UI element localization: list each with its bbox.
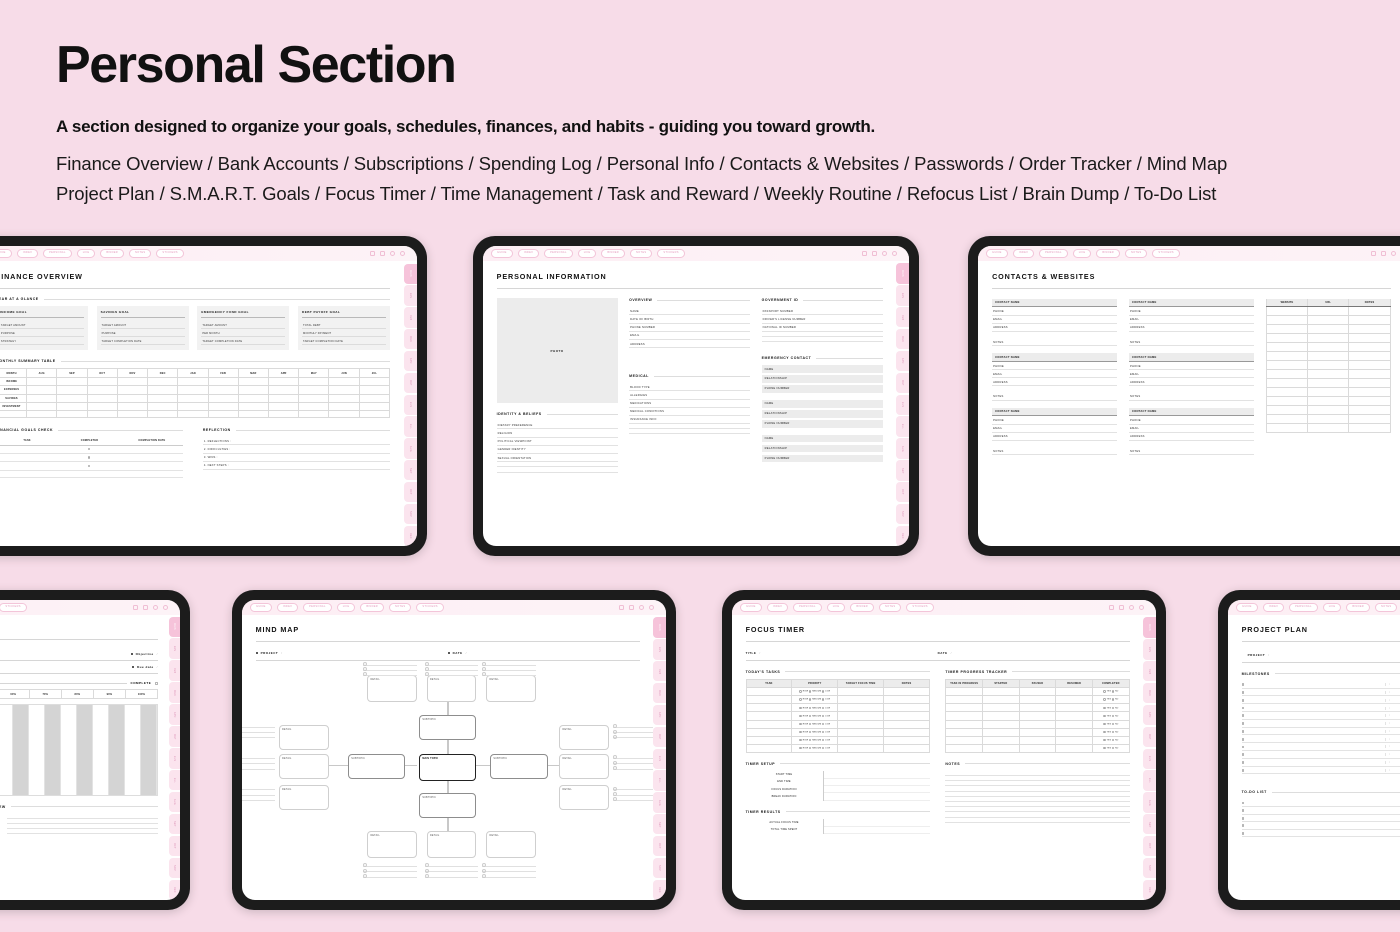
side-tab-may[interactable]: MAY xyxy=(1143,727,1156,747)
timer-date-field[interactable]: DATE / xyxy=(938,651,1130,655)
due-date-field[interactable]: Due date / xyxy=(0,665,158,669)
completed-radio[interactable] xyxy=(88,465,90,467)
milestone-date[interactable]: / xyxy=(1385,745,1400,748)
form-field[interactable]: BLOOD TYPE xyxy=(629,383,750,391)
contact-field[interactable]: EMAIL xyxy=(1129,370,1254,378)
contact-field[interactable]: ADDRESS xyxy=(992,378,1117,386)
contact-field[interactable]: EMAIL xyxy=(992,370,1117,378)
milestone-checkbox[interactable] xyxy=(1242,722,1245,725)
side-tab-may[interactable]: MAY xyxy=(404,373,417,393)
milestone-date[interactable]: / xyxy=(1385,722,1400,725)
priority-radio[interactable] xyxy=(799,739,801,741)
bookmark-icon[interactable] xyxy=(1371,251,1376,256)
completed-radio[interactable] xyxy=(1103,723,1105,725)
side-tab-jul[interactable]: JUL xyxy=(169,770,180,790)
form-field[interactable]: DRIVER'S LICENSE NUMBER xyxy=(762,315,883,323)
mind-map-list[interactable] xyxy=(242,785,275,801)
goal-card-field[interactable]: PURPOSE xyxy=(101,329,185,337)
progress-cell[interactable] xyxy=(0,705,13,795)
milestone-date[interactable]: / xyxy=(1385,730,1400,733)
side-tab-mar[interactable]: MAR xyxy=(653,683,666,703)
detail-node-right-1[interactable]: DETAIL xyxy=(559,754,609,779)
todo-checkbox[interactable] xyxy=(1242,802,1245,805)
nav-pill-binder[interactable]: BINDER xyxy=(360,603,384,612)
detail-node-left-0[interactable]: DETAIL xyxy=(279,725,329,750)
nav-pill-life[interactable]: LIFE xyxy=(827,603,846,612)
contact-field[interactable]: EMAIL xyxy=(1129,316,1254,324)
completed-radio[interactable] xyxy=(1103,731,1105,733)
mind-map-list[interactable] xyxy=(363,661,417,677)
side-tab-jul[interactable]: JUL xyxy=(896,416,909,436)
contact-field[interactable]: ADDRESS xyxy=(992,324,1117,332)
priority-radio[interactable] xyxy=(799,707,801,709)
form-field[interactable] xyxy=(629,429,750,434)
side-tab-oct[interactable]: OCT xyxy=(653,836,666,856)
todo-checkbox[interactable] xyxy=(1242,817,1245,820)
form-field[interactable]: NAME xyxy=(629,307,750,315)
side-tab-dec[interactable]: DEC xyxy=(1143,880,1156,900)
todo-row[interactable] xyxy=(1242,815,1400,823)
form-field[interactable]: DATE OF BIRTH xyxy=(629,315,750,323)
side-tab-jun[interactable]: JUN xyxy=(1143,749,1156,769)
priority-radio[interactable] xyxy=(809,715,811,717)
dot-icon[interactable] xyxy=(649,605,654,610)
nav-pill-index[interactable]: INDEX xyxy=(1013,249,1034,258)
side-tab-mar[interactable]: MAR xyxy=(1143,683,1156,703)
progress-cell[interactable] xyxy=(45,705,61,795)
side-tab-sep[interactable]: SEP xyxy=(169,814,180,834)
reflection-item[interactable]: 2. DIFFICULTIES : xyxy=(203,445,390,453)
side-tab-apr[interactable]: APR xyxy=(896,351,909,371)
priority-radio[interactable] xyxy=(809,723,811,725)
milestone-row[interactable]: / xyxy=(1242,704,1400,712)
milestone-row[interactable]: / xyxy=(1242,767,1400,775)
detail-node-top-1[interactable]: DETAIL xyxy=(427,675,477,702)
detail-node-top-2[interactable]: DETAIL xyxy=(486,675,536,702)
contact-field[interactable]: EMAIL xyxy=(992,425,1117,433)
priority-radio[interactable] xyxy=(822,690,824,692)
lock-icon[interactable] xyxy=(629,605,634,610)
mind-map-list[interactable] xyxy=(242,754,275,770)
side-tab-oct[interactable]: OCT xyxy=(169,836,180,856)
completed-radio[interactable] xyxy=(1112,747,1114,749)
milestone-checkbox[interactable] xyxy=(1242,753,1245,756)
nav-pill-stickers[interactable]: STICKERS xyxy=(156,249,183,258)
goal-card-field[interactable]: TARGET COMPLETION DATE xyxy=(302,337,386,345)
list-line[interactable] xyxy=(613,764,653,769)
emergency-field[interactable]: PHONE NUMBER xyxy=(762,420,883,428)
nav-pill-life[interactable]: LIFE xyxy=(1073,249,1092,258)
progress-cell[interactable] xyxy=(29,705,45,795)
form-field[interactable]: RELIGION xyxy=(497,429,618,437)
progress-cell[interactable] xyxy=(109,705,125,795)
emergency-field[interactable]: NAME xyxy=(762,400,883,408)
nav-pill-personal[interactable]: PERSONAL xyxy=(303,603,332,612)
nav-pill-stickers[interactable]: STICKERS xyxy=(906,603,933,612)
milestone-checkbox[interactable] xyxy=(1242,691,1245,694)
milestone-row[interactable]: / xyxy=(1242,735,1400,743)
nav-pill-life[interactable]: LIFE xyxy=(337,603,356,612)
nav-pill-notes[interactable]: NOTES xyxy=(389,603,411,612)
list-line[interactable] xyxy=(482,671,536,676)
reflection-item[interactable]: 3. WINS : xyxy=(203,454,390,462)
list-line[interactable] xyxy=(613,733,653,738)
bookmark-icon[interactable] xyxy=(370,251,375,256)
emergency-field[interactable]: PHONE NUMBER xyxy=(762,455,883,463)
side-tab-oct[interactable]: OCT xyxy=(896,482,909,502)
detail-node-bottom-0[interactable]: DETAIL xyxy=(367,831,417,858)
detail-node-left-2[interactable]: DETAIL xyxy=(279,785,329,810)
lock-icon[interactable] xyxy=(380,251,385,256)
list-line[interactable] xyxy=(242,796,275,801)
side-tab-aug[interactable]: AUG xyxy=(169,792,180,812)
side-tab-feb[interactable]: FEB xyxy=(169,660,180,680)
mind-map-list[interactable] xyxy=(425,862,479,878)
list-line[interactable] xyxy=(425,872,479,877)
side-tab-sep[interactable]: SEP xyxy=(896,460,909,480)
nav-pill-guide[interactable]: GUIDE xyxy=(0,249,12,258)
progress-cell[interactable] xyxy=(77,705,93,795)
side-tab-sep[interactable]: SEP xyxy=(653,814,666,834)
dot-icon[interactable] xyxy=(892,251,897,256)
priority-radio[interactable] xyxy=(822,731,824,733)
lock-icon[interactable] xyxy=(143,605,148,610)
todo-checkbox[interactable] xyxy=(1242,809,1245,812)
todo-row[interactable] xyxy=(1242,799,1400,807)
milestone-checkbox[interactable] xyxy=(1242,707,1245,710)
nav-pill-life[interactable]: LIFE xyxy=(578,249,597,258)
list-line[interactable] xyxy=(242,733,275,738)
progress-cell[interactable] xyxy=(141,705,157,795)
contact-field[interactable]: PHONE xyxy=(992,416,1117,424)
goal-card-field[interactable]: TARGET COMPLETION DATE xyxy=(201,337,285,345)
priority-radio[interactable] xyxy=(809,690,811,692)
milestone-row[interactable]: / xyxy=(1242,720,1400,728)
timer-title-field[interactable]: TITLE / xyxy=(746,651,938,655)
bookmark-icon[interactable] xyxy=(862,251,867,256)
reflection-item[interactable]: 1. REFLECTIONS : xyxy=(203,437,390,445)
contact-field[interactable]: PHONE xyxy=(1129,416,1254,424)
gear-icon[interactable] xyxy=(1391,251,1396,256)
form-field[interactable]: INSURANCE INFO xyxy=(629,416,750,424)
mind-map-list[interactable] xyxy=(363,862,417,878)
goal-card-field[interactable]: TARGET AMOUNT xyxy=(0,321,84,329)
side-tab-jul[interactable]: JUL xyxy=(653,770,666,790)
side-tab-main[interactable]: MAIN xyxy=(1143,617,1156,637)
mind-map-list[interactable] xyxy=(482,661,536,677)
milestone-row[interactable]: / xyxy=(1242,681,1400,689)
side-tab-main[interactable]: MAIN xyxy=(404,264,417,284)
side-tab-feb[interactable]: FEB xyxy=(653,661,666,681)
side-tab-dec[interactable]: DEC xyxy=(896,526,909,546)
subtopic-node-bottom[interactable]: SUBTOPIC xyxy=(419,793,477,818)
goal-card-field[interactable]: TARGET COMPLETION DATE xyxy=(101,337,185,345)
completed-radio[interactable] xyxy=(88,456,90,458)
priority-radio[interactable] xyxy=(822,739,824,741)
completed-radio[interactable] xyxy=(1112,715,1114,717)
objective-field[interactable]: Objective / xyxy=(0,652,158,656)
completed-radio[interactable] xyxy=(1103,698,1105,700)
side-tab-dec[interactable]: DEC xyxy=(653,880,666,900)
nav-pill-personal[interactable]: PERSONAL xyxy=(793,603,822,612)
detail-node-right-0[interactable]: DETAIL xyxy=(559,725,609,750)
priority-radio[interactable] xyxy=(799,698,801,700)
mind-map-list[interactable] xyxy=(425,661,479,677)
milestone-checkbox[interactable] xyxy=(1242,699,1245,702)
nav-pill-notes[interactable]: NOTES xyxy=(1125,249,1147,258)
side-tab-may[interactable]: MAY xyxy=(896,373,909,393)
nav-pill-guide[interactable]: GUIDE xyxy=(740,603,762,612)
completed-radio[interactable] xyxy=(1103,747,1105,749)
nav-pill-personal[interactable]: PERSONAL xyxy=(43,249,72,258)
priority-radio[interactable] xyxy=(822,707,824,709)
form-field[interactable]: EMAIL xyxy=(629,332,750,340)
detail-node-top-0[interactable]: DETAIL xyxy=(367,675,417,702)
nav-pill-index[interactable]: INDEX xyxy=(277,603,298,612)
side-tab-nov[interactable]: NOV xyxy=(1143,858,1156,878)
side-tab-jan[interactable]: JAN xyxy=(169,638,180,658)
emergency-field[interactable]: PHONE NUMBER xyxy=(762,385,883,393)
side-tab-feb[interactable]: FEB xyxy=(1143,661,1156,681)
goal-card-field[interactable]: STRATEGY xyxy=(0,337,84,345)
priority-radio[interactable] xyxy=(799,715,801,717)
nav-pill-guide[interactable]: GUIDE xyxy=(250,603,272,612)
list-line[interactable] xyxy=(482,872,536,877)
milestone-checkbox[interactable] xyxy=(1242,738,1245,741)
nav-pill-stickers[interactable]: STICKERS xyxy=(1152,249,1179,258)
side-tab-mar[interactable]: MAR xyxy=(896,329,909,349)
milestone-checkbox[interactable] xyxy=(1242,746,1245,749)
complete-checkbox[interactable] xyxy=(155,682,158,685)
todo-row[interactable] xyxy=(1242,807,1400,815)
completed-radio[interactable] xyxy=(1103,707,1105,709)
milestone-checkbox[interactable] xyxy=(1242,769,1245,772)
emergency-field[interactable]: RELATIONSHIP xyxy=(762,410,883,418)
list-line[interactable] xyxy=(242,764,275,769)
nav-pill-binder[interactable]: BINDER xyxy=(850,603,874,612)
todo-row[interactable] xyxy=(1242,830,1400,838)
form-field[interactable]: ALLERGIES xyxy=(629,391,750,399)
priority-radio[interactable] xyxy=(799,723,801,725)
side-tab-oct[interactable]: OCT xyxy=(1143,836,1156,856)
priority-radio[interactable] xyxy=(799,690,801,692)
completed-radio[interactable] xyxy=(88,448,90,450)
contact-field[interactable]: PHONE xyxy=(992,307,1117,315)
progress-cell[interactable] xyxy=(125,705,141,795)
list-line[interactable] xyxy=(613,796,653,801)
completed-radio[interactable] xyxy=(1112,698,1114,700)
todo-row[interactable] xyxy=(1242,822,1400,830)
form-field[interactable]: GENDER IDENTITY xyxy=(497,446,618,454)
nav-pill-notes[interactable]: NOTES xyxy=(879,603,901,612)
completed-radio[interactable] xyxy=(1103,739,1105,741)
reflection-item[interactable]: 4. NEXT STEPS : xyxy=(203,462,390,470)
completed-radio[interactable] xyxy=(1103,690,1105,692)
contact-field[interactable]: EMAIL xyxy=(992,316,1117,324)
side-tab-apr[interactable]: APR xyxy=(1143,705,1156,725)
priority-radio[interactable] xyxy=(822,715,824,717)
milestone-checkbox[interactable] xyxy=(1242,730,1245,733)
detail-node-bottom-2[interactable]: DETAIL xyxy=(486,831,536,858)
side-tab-jun[interactable]: JUN xyxy=(404,395,417,415)
completed-radio[interactable] xyxy=(1112,731,1114,733)
milestone-row[interactable]: / xyxy=(1242,689,1400,697)
nav-pill-notes[interactable]: NOTES xyxy=(129,249,151,258)
completed-radio[interactable] xyxy=(1103,715,1105,717)
contact-field[interactable]: ADDRESS xyxy=(1129,433,1254,441)
milestone-row[interactable]: / xyxy=(1242,751,1400,759)
completed-radio[interactable] xyxy=(1112,723,1114,725)
side-tab-nov[interactable]: NOV xyxy=(653,858,666,878)
nav-pill-index[interactable]: INDEX xyxy=(767,603,788,612)
milestone-date[interactable]: / xyxy=(1385,683,1400,686)
gear-icon[interactable] xyxy=(639,605,644,610)
nav-pill-index[interactable]: INDEX xyxy=(17,249,38,258)
contact-notes[interactable]: NOTES xyxy=(992,447,1117,455)
emergency-field[interactable]: NAME xyxy=(762,435,883,443)
contact-field[interactable]: EMAIL xyxy=(1129,425,1254,433)
form-field[interactable]: POLITICAL VIEWPOINT xyxy=(497,438,618,446)
side-tab-feb[interactable]: FEB xyxy=(896,307,909,327)
side-tab-aug[interactable]: AUG xyxy=(1143,792,1156,812)
side-tab-mar[interactable]: MAR xyxy=(169,682,180,702)
gear-icon[interactable] xyxy=(1129,605,1134,610)
milestone-row[interactable]: / xyxy=(1242,743,1400,751)
side-tab-aug[interactable]: AUG xyxy=(653,792,666,812)
form-field[interactable]: PHONE NUMBER xyxy=(629,324,750,332)
contact-notes[interactable]: NOTES xyxy=(992,338,1117,346)
notes-line[interactable] xyxy=(945,818,1129,823)
form-field[interactable]: ADDRESS xyxy=(629,340,750,348)
milestone-date[interactable]: / xyxy=(1385,753,1400,756)
detail-node-left-1[interactable]: DETAIL xyxy=(279,754,329,779)
completed-radio[interactable] xyxy=(1112,707,1114,709)
contact-notes[interactable]: NOTES xyxy=(1129,447,1254,455)
side-tab-aug[interactable]: AUG xyxy=(896,438,909,458)
contact-field[interactable]: PHONE xyxy=(992,362,1117,370)
side-tab-feb[interactable]: FEB xyxy=(404,307,417,327)
emergency-field[interactable]: RELATIONSHIP xyxy=(762,375,883,383)
list-line[interactable] xyxy=(363,872,417,877)
form-field[interactable] xyxy=(497,467,618,472)
priority-radio[interactable] xyxy=(822,723,824,725)
subtopic-node-left[interactable]: SUBTOPIC xyxy=(348,754,406,779)
side-tab-sep[interactable]: SEP xyxy=(404,460,417,480)
side-tab-main[interactable]: MAIN xyxy=(653,617,666,637)
gear-icon[interactable] xyxy=(153,605,158,610)
milestone-checkbox[interactable] xyxy=(1242,683,1245,686)
todo-checkbox[interactable] xyxy=(1242,824,1245,827)
mind-map-list[interactable] xyxy=(482,862,536,878)
list-line[interactable] xyxy=(363,671,417,676)
nav-pill-binder[interactable]: BINDER xyxy=(601,249,625,258)
side-tab-mar[interactable]: MAR xyxy=(404,329,417,349)
bookmark-icon[interactable] xyxy=(1109,605,1114,610)
main-topic-node[interactable]: MAIN TOPIC xyxy=(419,754,477,781)
side-tab-jun[interactable]: JUN xyxy=(653,749,666,769)
milestone-date[interactable]: / xyxy=(1385,699,1400,702)
side-tab-nov[interactable]: NOV xyxy=(404,504,417,524)
priority-radio[interactable] xyxy=(822,698,824,700)
side-tab-jul[interactable]: JUL xyxy=(404,416,417,436)
milestone-row[interactable]: / xyxy=(1242,712,1400,720)
nav-pill-index[interactable]: INDEX xyxy=(1263,603,1284,612)
mind-map-list[interactable] xyxy=(613,723,653,739)
side-tab-nov[interactable]: NOV xyxy=(169,858,180,878)
nav-pill-stickers[interactable]: STICKERS xyxy=(0,603,27,612)
side-tab-may[interactable]: MAY xyxy=(653,727,666,747)
priority-radio[interactable] xyxy=(809,739,811,741)
side-tab-jan[interactable]: JAN xyxy=(1143,639,1156,659)
side-tab-jun[interactable]: JUN xyxy=(169,748,180,768)
side-tab-dec[interactable]: DEC xyxy=(169,880,180,900)
side-tab-apr[interactable]: APR xyxy=(404,351,417,371)
side-tab-jan[interactable]: JAN xyxy=(404,285,417,305)
mind-map-list[interactable] xyxy=(613,754,653,770)
nav-pill-personal[interactable]: PERSONAL xyxy=(1039,249,1068,258)
side-tab-aug[interactable]: AUG xyxy=(404,438,417,458)
side-tab-main[interactable]: MAIN xyxy=(169,617,180,637)
nav-pill-stickers[interactable]: STICKERS xyxy=(416,603,443,612)
goal-card-field[interactable]: TARGET AMOUNT xyxy=(101,321,185,329)
priority-radio[interactable] xyxy=(809,698,811,700)
side-tab-dec[interactable]: DEC xyxy=(404,526,417,546)
form-field[interactable] xyxy=(762,337,883,342)
priority-radio[interactable] xyxy=(809,731,811,733)
milestone-date[interactable]: / xyxy=(1385,761,1400,764)
progress-cell[interactable] xyxy=(61,705,77,795)
side-tab-jun[interactable]: JUN xyxy=(896,395,909,415)
contact-field[interactable]: PHONE xyxy=(1129,362,1254,370)
bookmark-icon[interactable] xyxy=(619,605,624,610)
form-field[interactable]: PASSPORT NUMBER xyxy=(762,307,883,315)
bookmark-icon[interactable] xyxy=(133,605,138,610)
progress-cell[interactable] xyxy=(13,705,29,795)
dot-icon[interactable] xyxy=(163,605,168,610)
milestone-row[interactable]: / xyxy=(1242,696,1400,704)
detail-node-right-2[interactable]: DETAIL xyxy=(559,785,609,810)
completed-radio[interactable] xyxy=(1112,739,1114,741)
contact-field[interactable]: ADDRESS xyxy=(1129,324,1254,332)
nav-pill-index[interactable]: INDEX xyxy=(518,249,539,258)
photo-placeholder[interactable]: PHOTO xyxy=(497,298,618,403)
project-field[interactable]: PROJECT / xyxy=(256,651,448,655)
side-tab-sep[interactable]: SEP xyxy=(1143,814,1156,834)
emergency-field[interactable]: NAME xyxy=(762,365,883,373)
form-field[interactable]: MEDICAL CONDITIONS xyxy=(629,408,750,416)
priority-radio[interactable] xyxy=(809,747,811,749)
nav-pill-life[interactable]: LIFE xyxy=(77,249,96,258)
form-field[interactable]: SEXUAL ORIENTATION xyxy=(497,454,618,462)
contact-notes[interactable]: NOTES xyxy=(1129,338,1254,346)
lock-icon[interactable] xyxy=(1381,251,1386,256)
form-field[interactable]: NATIONAL ID NUMBER xyxy=(762,324,883,332)
mind-map-list[interactable] xyxy=(613,785,653,801)
gear-icon[interactable] xyxy=(882,251,887,256)
side-tab-jan[interactable]: JAN xyxy=(653,639,666,659)
goal-card-field[interactable]: PURPOSE xyxy=(0,329,84,337)
goal-card-field[interactable]: TARGET AMOUNT xyxy=(201,321,285,329)
nav-pill-stickers[interactable]: STICKERS xyxy=(657,249,684,258)
lock-icon[interactable] xyxy=(1119,605,1124,610)
priority-radio[interactable] xyxy=(822,747,824,749)
dot-icon[interactable] xyxy=(1139,605,1144,610)
detail-node-bottom-1[interactable]: DETAIL xyxy=(427,831,477,858)
milestone-checkbox[interactable] xyxy=(1242,714,1245,717)
milestone-date[interactable]: / xyxy=(1385,707,1400,710)
subtopic-node-top[interactable]: SUBTOPIC xyxy=(419,715,477,740)
milestone-date[interactable]: / xyxy=(1385,691,1400,694)
